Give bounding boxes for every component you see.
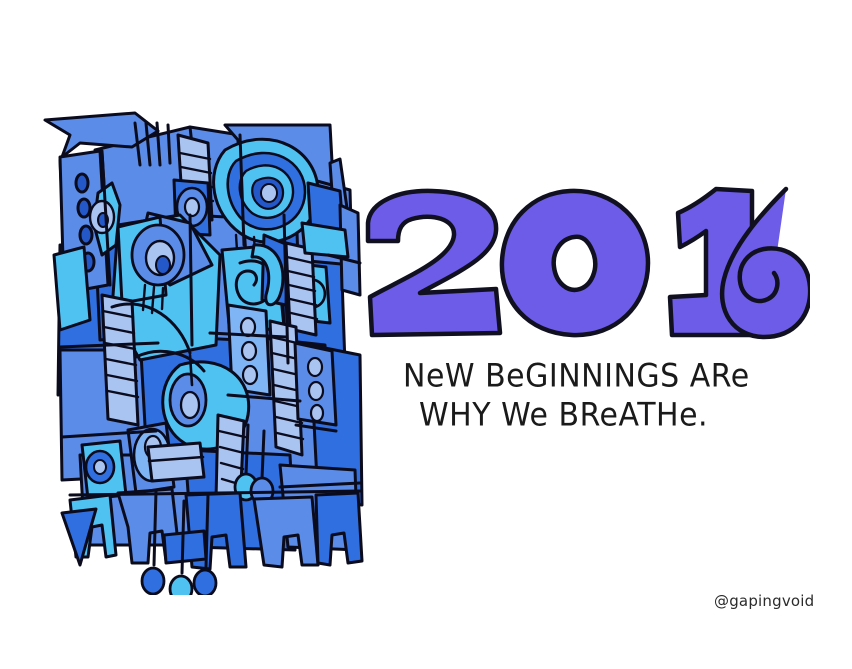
signature-watermark: @gapingvoid [714, 592, 814, 610]
tagline-line-2: WHY We BReATHe. [395, 399, 839, 434]
tagline-line-1: NeW BeGINNINGS ARe [395, 360, 823, 395]
tagline-line-2-text: WHY We BReATHe. [419, 397, 708, 434]
year-2016-lettering [360, 185, 810, 350]
tagline-line-1-text: NeW BeGINNINGS ARe [403, 358, 750, 395]
artwork-illustration [40, 95, 370, 595]
poster-canvas: NeW BeGINNINGS ARe WHY We BReATHe. @gapi… [0, 0, 852, 669]
